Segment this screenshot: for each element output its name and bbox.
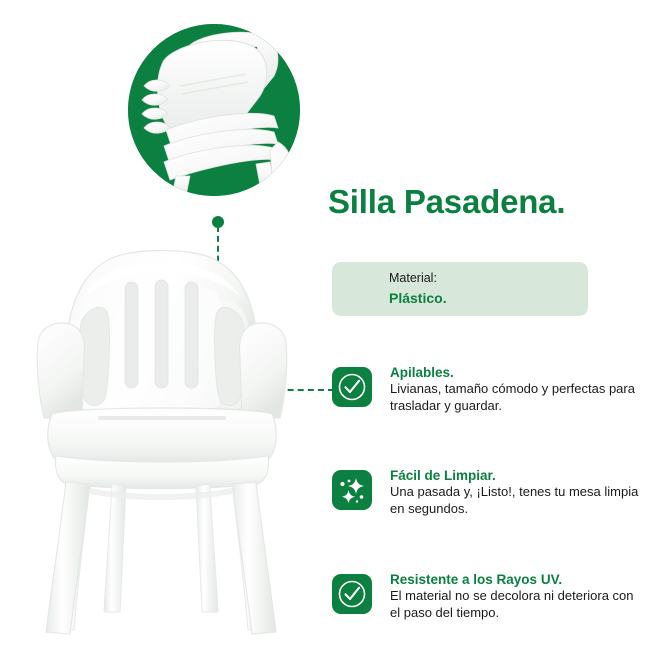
stacked-chairs-photo: [128, 24, 300, 196]
white-plastic-armchair-photo: [12, 232, 312, 636]
feature-text: Resistente a los Rayos UV. El material n…: [390, 572, 642, 621]
feature-item-resistente-rayos-uv: Resistente a los Rayos UV. El material n…: [332, 572, 642, 616]
feature-description: Una pasada y, ¡Listo!, tenes tu mesa lim…: [390, 484, 642, 517]
material-box: Material: Plástico.: [332, 262, 588, 316]
product-image: [12, 232, 312, 636]
material-label: Material:: [389, 271, 437, 285]
feature-text: Fácil de Limpiar. Una pasada y, ¡Listo!,…: [390, 468, 642, 517]
stacked-chairs-inset: [128, 24, 300, 196]
feature-item-apilables: Apilables. Livianas, tamaño cómodo y per…: [332, 365, 642, 409]
feature-heading: Fácil de Limpiar.: [390, 468, 642, 484]
feature-item-facil-de-limpiar: Fácil de Limpiar. Una pasada y, ¡Listo!,…: [332, 468, 642, 512]
feature-heading: Apilables.: [390, 365, 642, 381]
feature-description: Livianas, tamaño cómodo y perfectas para…: [390, 381, 642, 414]
page-title: Silla Pasadena.: [328, 183, 565, 221]
feature-description: El material no se decolora ni deteriora …: [390, 588, 642, 621]
check-circle-icon: [332, 367, 372, 407]
product-infographic: Silla Pasadena. Material: Plástico. Apil…: [0, 0, 645, 645]
feature-heading: Resistente a los Rayos UV.: [390, 572, 642, 588]
sparkles-icon: [332, 470, 372, 510]
feature-text: Apilables. Livianas, tamaño cómodo y per…: [390, 365, 642, 414]
check-circle-icon: [332, 574, 372, 614]
material-value: Plástico.: [389, 290, 447, 306]
